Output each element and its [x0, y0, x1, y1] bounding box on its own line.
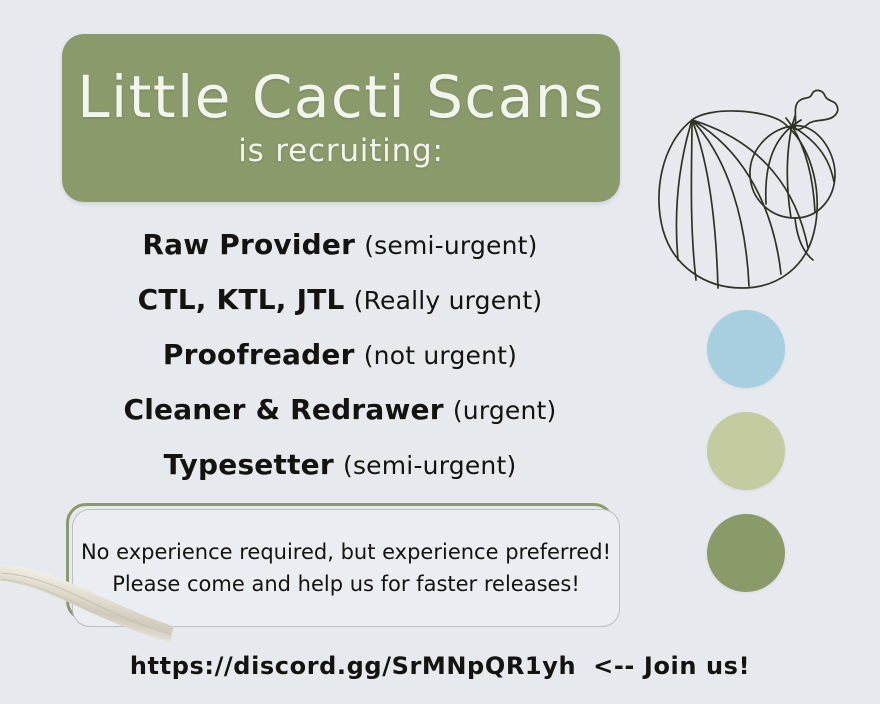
note-line-2: Please come and help us for faster relea…	[112, 568, 580, 600]
color-swatch-sage	[707, 412, 785, 490]
list-item: Cleaner & Redrawer (urgent)	[123, 383, 556, 438]
roles-list: Raw Provider (semi-urgent) CTL, KTL, JTL…	[40, 218, 640, 493]
discord-invite-link[interactable]: https://discord.gg/SrMNpQR1yh	[130, 652, 576, 680]
list-item: CTL, KTL, JTL (Really urgent)	[138, 273, 543, 328]
list-item: Raw Provider (semi-urgent)	[142, 218, 537, 273]
header-subtitle: is recruiting:	[238, 134, 444, 168]
role-name: Raw Provider	[142, 228, 355, 261]
discord-join-cta: <-- Join us!	[593, 652, 750, 680]
recruitment-poster: Little Cacti Scans is recruiting:	[0, 0, 880, 704]
role-name: Cleaner & Redrawer	[123, 393, 443, 426]
page-title: Little Cacti Scans	[77, 68, 605, 127]
header-banner: Little Cacti Scans is recruiting:	[62, 34, 620, 202]
list-item: Proofreader (not urgent)	[163, 328, 517, 383]
discord-invite-line: https://discord.gg/SrMNpQR1yh <-- Join u…	[0, 652, 880, 680]
role-urgency: (not urgent)	[364, 341, 517, 370]
color-swatch-olive	[707, 514, 785, 592]
role-urgency: (semi-urgent)	[364, 231, 537, 260]
cactus-icon	[645, 52, 870, 292]
role-urgency: (semi-urgent)	[343, 451, 516, 480]
role-name: Proofreader	[163, 338, 355, 371]
role-name: CTL, KTL, JTL	[138, 283, 345, 316]
list-item: Typesetter (semi-urgent)	[164, 438, 517, 493]
role-name: Typesetter	[164, 448, 334, 481]
color-swatch-light-blue	[707, 310, 785, 388]
role-urgency: (Really urgent)	[354, 286, 543, 315]
role-urgency: (urgent)	[453, 396, 557, 425]
note-line-1: No experience required, but experience p…	[81, 536, 611, 568]
